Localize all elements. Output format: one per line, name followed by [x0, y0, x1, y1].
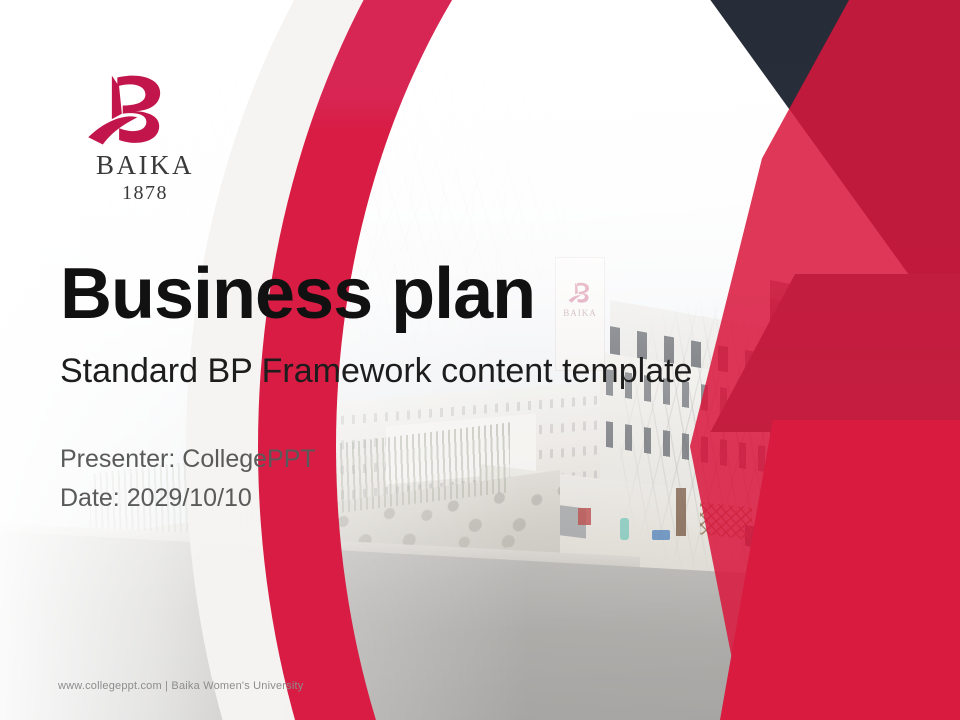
date-line: Date: 2029/10/10: [60, 479, 316, 518]
slide-subtitle: Standard BP Framework content template: [60, 352, 692, 391]
slide-title: Business plan: [60, 258, 535, 330]
baika-wordmark: BAIKA: [60, 152, 230, 179]
slide-footer: www.collegeppt.com | Baika Women's Unive…: [58, 680, 303, 692]
baika-founding-year: 1878: [60, 182, 230, 205]
slide-meta-block: Presenter: CollegePPT Date: 2029/10/10: [60, 440, 316, 518]
presenter-line: Presenter: CollegePPT: [60, 440, 316, 479]
baika-b-monogram-icon: [84, 72, 176, 150]
baika-logo: BAIKA 1878: [60, 72, 230, 205]
presentation-slide: BAIKA BAIKA 1878 Business plan Standard …: [0, 0, 960, 720]
